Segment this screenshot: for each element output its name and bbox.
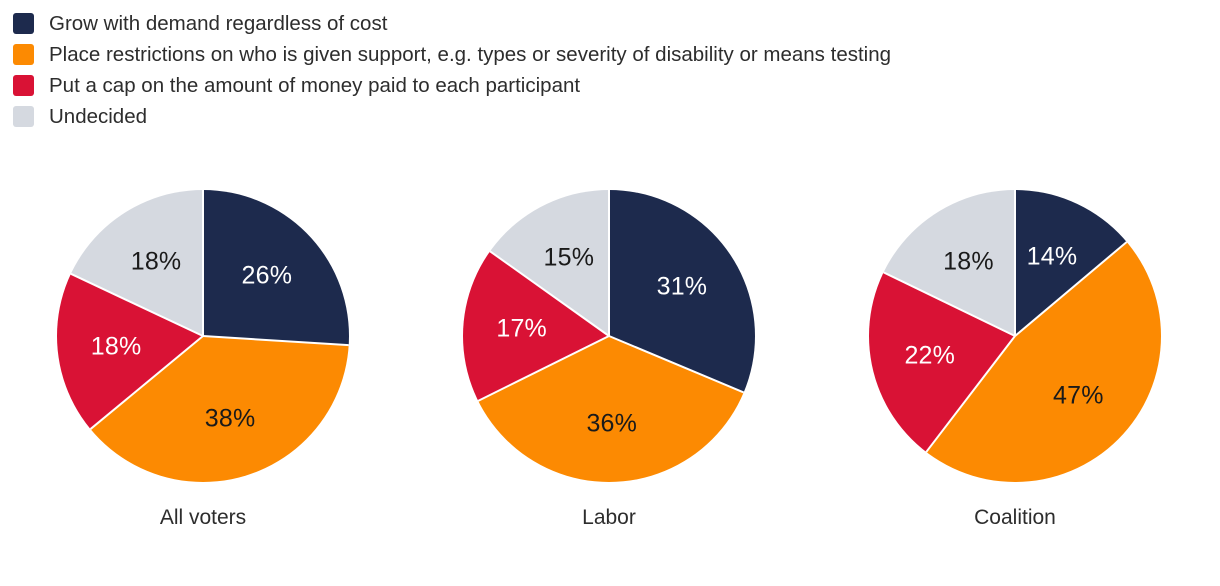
pie-slice-divider xyxy=(608,190,610,336)
pie-slice-divider xyxy=(202,190,204,336)
legend-label-put-a-cap: Put a cap on the amount of money paid to… xyxy=(49,74,580,98)
pie-slice-label: 15% xyxy=(544,246,595,271)
pie-slice-label: 17% xyxy=(496,317,547,342)
legend-swatch-undecided xyxy=(13,106,34,127)
pie-chart-all-voters: 26%38%18%18% All voters xyxy=(0,190,406,530)
pie-slice-label: 18% xyxy=(131,250,182,275)
pie-slice-label: 36% xyxy=(586,411,637,436)
pie-chart-labor: 31%36%17%15% Labor xyxy=(406,190,812,530)
pie-slice-divider xyxy=(1014,190,1016,336)
legend-label-undecided: Undecided xyxy=(49,105,147,129)
pie-wrap-coalition: 14%47%22%18% xyxy=(869,190,1161,482)
pie-category-label-labor: Labor xyxy=(582,506,636,530)
legend-item-place-restrictions: Place restrictions on who is given suppo… xyxy=(13,39,1203,70)
legend-swatch-place-restrictions xyxy=(13,44,34,65)
legend-item-put-a-cap: Put a cap on the amount of money paid to… xyxy=(13,70,1203,101)
pie-category-label-all-voters: All voters xyxy=(160,506,246,530)
pie-slice-label: 47% xyxy=(1053,384,1104,409)
pie-slice-label: 18% xyxy=(943,249,994,274)
pie-slice-label: 38% xyxy=(205,407,256,432)
pie-wrap-labor: 31%36%17%15% xyxy=(463,190,755,482)
pie-chart-coalition: 14%47%22%18% Coalition xyxy=(812,190,1218,530)
legend-item-undecided: Undecided xyxy=(13,101,1203,132)
pie-category-label-coalition: Coalition xyxy=(974,506,1056,530)
pie-slice-label: 26% xyxy=(242,264,293,289)
pie-slice-label: 18% xyxy=(91,334,142,359)
legend: Grow with demand regardless of cost Plac… xyxy=(13,8,1203,132)
legend-label-grow-with-demand: Grow with demand regardless of cost xyxy=(49,12,387,36)
legend-item-grow-with-demand: Grow with demand regardless of cost xyxy=(13,8,1203,39)
pie-slice-label: 31% xyxy=(657,275,708,300)
legend-label-place-restrictions: Place restrictions on who is given suppo… xyxy=(49,43,891,67)
legend-swatch-grow-with-demand xyxy=(13,13,34,34)
pie-chart-group: 26%38%18%18% All voters 31%36%17%15% Lab… xyxy=(0,190,1220,530)
pie-wrap-all-voters: 26%38%18%18% xyxy=(57,190,349,482)
pie-slice-label: 22% xyxy=(904,344,955,369)
legend-swatch-put-a-cap xyxy=(13,75,34,96)
pie-slice-label: 14% xyxy=(1027,244,1078,269)
